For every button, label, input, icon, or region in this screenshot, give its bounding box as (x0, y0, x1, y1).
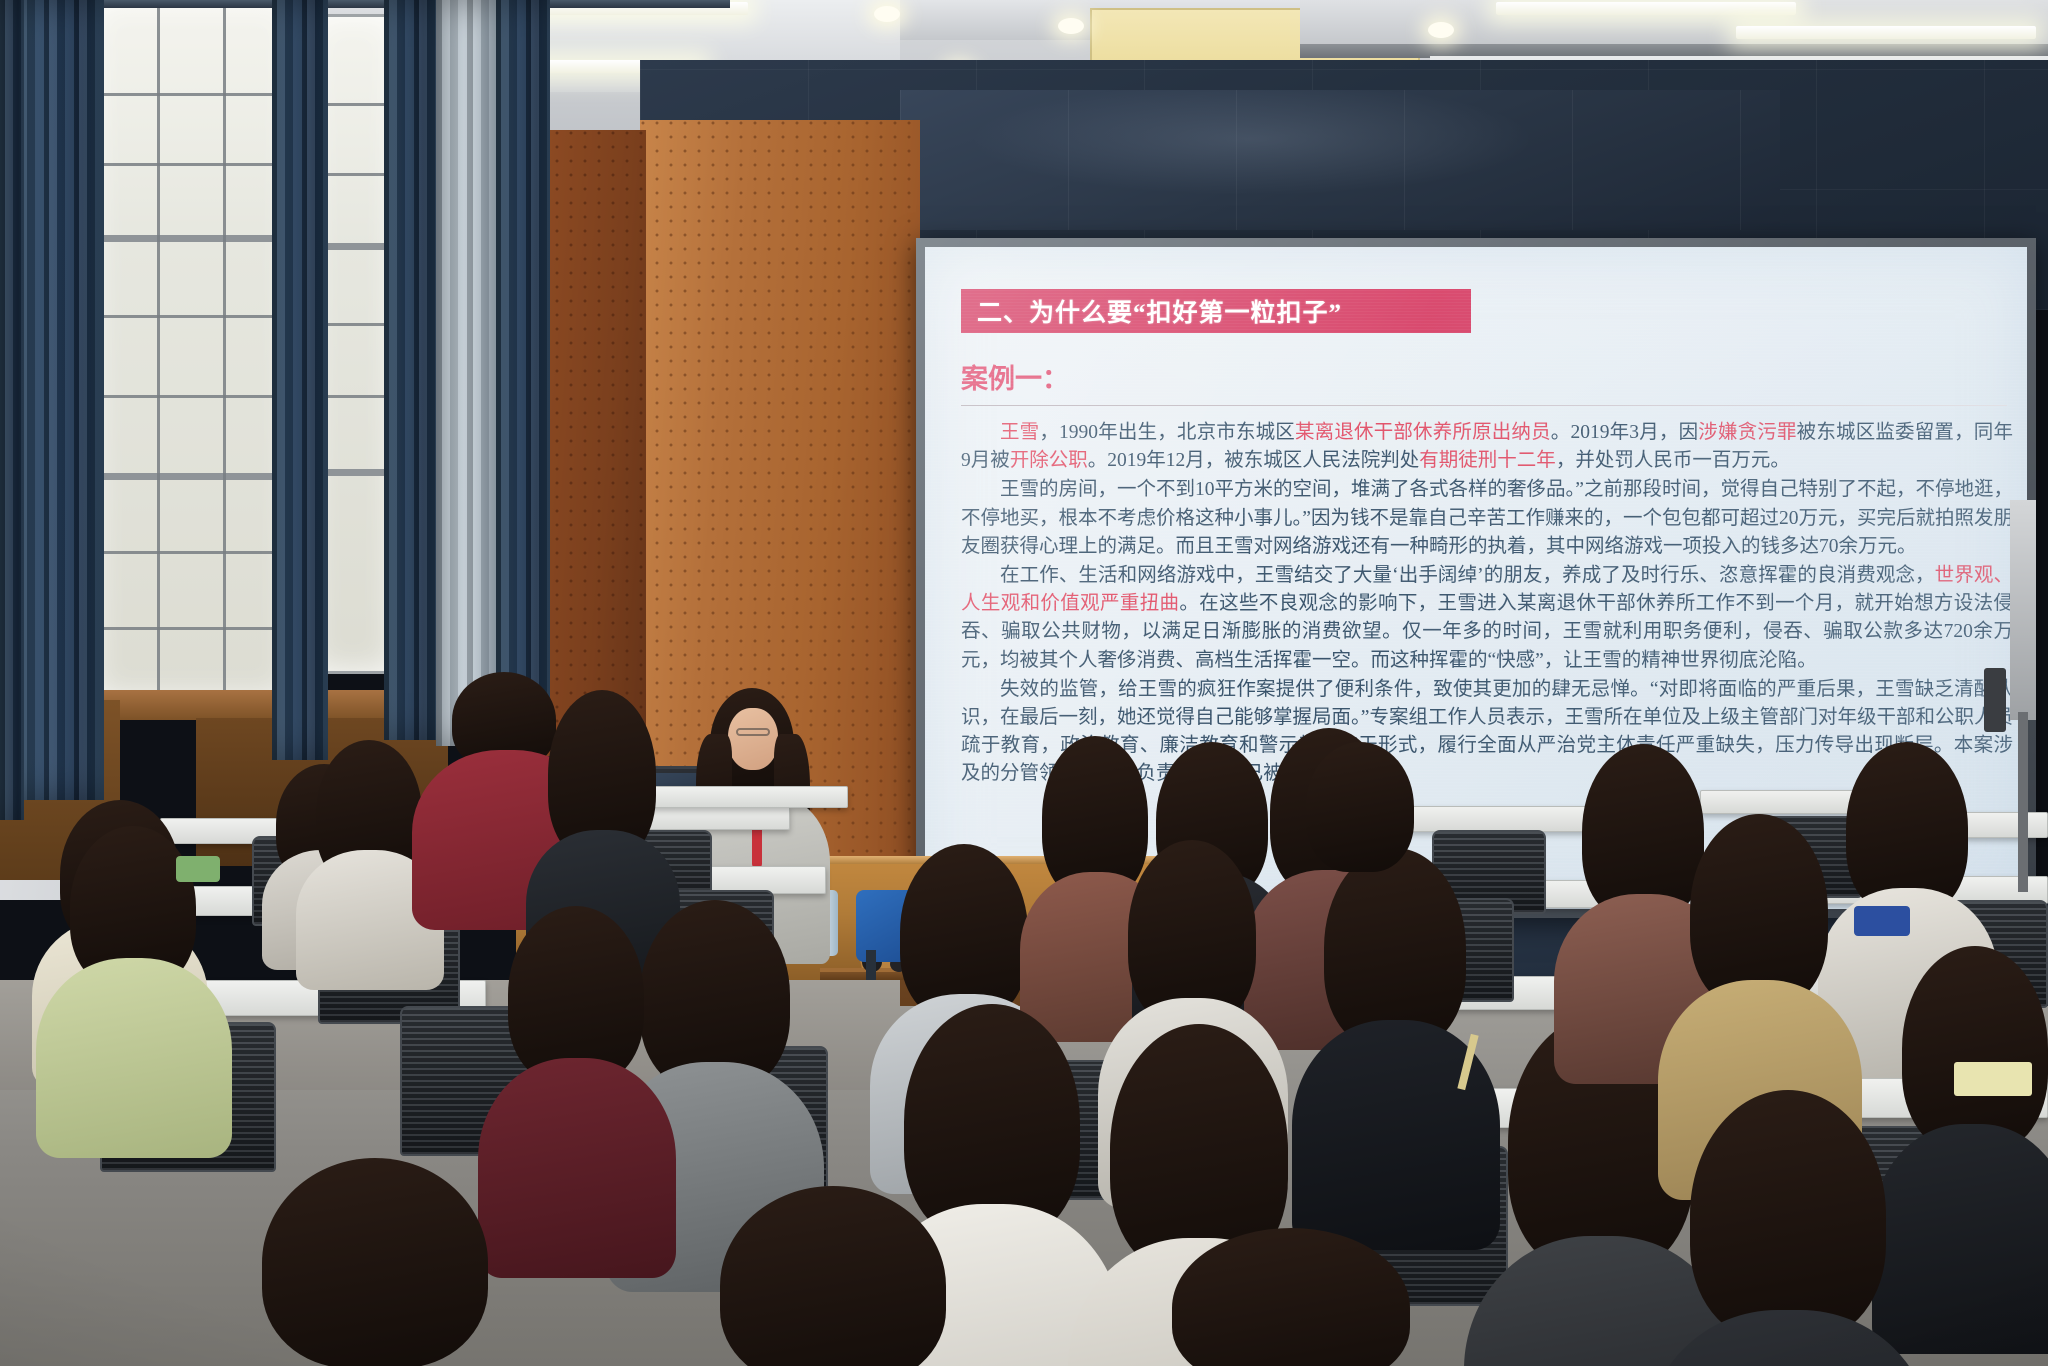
desk (648, 786, 848, 808)
slide-text-highlight: 有期徒刑十二年 (1419, 450, 1556, 471)
slide-text-highlight: 某离退休干部休养所原出纳员 (1295, 422, 1551, 443)
stand-clamp (1984, 668, 2006, 732)
slide-title-bar: 二、为什么要“扣好第一粒扣子” (961, 289, 1471, 333)
student (1306, 742, 1416, 892)
slide-subtitle: 案例一： (961, 357, 1069, 396)
ceiling-light (1736, 26, 2036, 39)
curtain (272, 0, 328, 760)
slide-text-run: 。2019年3月，因 (1551, 422, 1699, 443)
ceiling-downlight (1428, 22, 1454, 38)
slide-text-highlight: 开除公职 (1010, 450, 1088, 471)
slide-body: 王雪，1990年出生，北京市东城区某离退休干部休养所原出纳员。2019年3月，因… (961, 419, 2013, 790)
curtain (0, 0, 24, 820)
window (92, 0, 292, 700)
student (316, 740, 426, 910)
student (1690, 1090, 1890, 1366)
curtain (384, 0, 436, 740)
curtain-sheer (436, 0, 498, 746)
student (452, 672, 560, 852)
student (508, 906, 648, 1146)
slide-text-run: 在工作、生活和网络游戏中，王雪结交了大量‘出手阔绰’的朋友，养成了及时行乐、恣意… (1000, 565, 1935, 586)
slide-paragraph: 王雪的房间，一个不到10平方米的空间，堆满了各式各样的奢侈品。”之前那段时间，觉… (961, 476, 2013, 561)
slide-paragraph: 王雪，1990年出生，北京市东城区某离退休干部休养所原出纳员。2019年3月，因… (961, 419, 2013, 475)
student (1172, 1228, 1412, 1366)
student-torso (478, 1058, 676, 1278)
slide-paragraph: 在工作、生活和网络游戏中，王雪结交了大量‘出手阔绰’的朋友，养成了及时行乐、恣意… (961, 562, 2013, 675)
ceiling-downlight (1058, 18, 1084, 34)
presenter-glasses (736, 728, 770, 736)
student (262, 1158, 492, 1366)
student-hair (1902, 946, 2048, 1152)
slide-text-highlight: 王雪 (1000, 422, 1039, 443)
student (548, 690, 658, 880)
lecture-hall-photo: 二、为什么要“扣好第一粒扣子” 案例一： 王雪，1990年出生，北京市东城区某离… (0, 0, 2048, 1366)
slide-divider (961, 405, 2007, 406)
slide-text-run: 。2019年12月，被东城区人民法院判处 (1088, 450, 1420, 471)
student-hair (262, 1158, 488, 1366)
student (1582, 744, 1706, 954)
stand-pole (2018, 712, 2028, 892)
slide-text-run: ，并处罚人民币一百万元。 (1556, 450, 1790, 471)
equipment-stand (2010, 500, 2036, 720)
notebook (1854, 906, 1910, 936)
curtain (14, 0, 104, 800)
student-hair (1690, 1090, 1886, 1340)
presenter-face (728, 708, 778, 770)
student-hair (1306, 742, 1414, 872)
student-torso (1872, 1124, 2048, 1354)
ceiling-downlight (874, 6, 900, 22)
student-hair (720, 1186, 946, 1366)
slide-title: 二、为什么要“扣好第一粒扣子” (961, 293, 1342, 329)
curtain (496, 0, 550, 748)
paper (1954, 1062, 2032, 1096)
student (1690, 814, 1830, 1054)
slide-text-highlight: 涉嫌贪污罪 (1698, 422, 1796, 443)
student-hair (1172, 1228, 1410, 1366)
acoustic-wall-glare (900, 90, 1780, 230)
bag (176, 856, 220, 882)
student-torso (36, 958, 232, 1158)
curtain-rod (30, 0, 730, 8)
slide-text-run: 王雪的房间，一个不到10平方米的空间，堆满了各式各样的奢侈品。”之前那段时间，觉… (961, 479, 2013, 556)
student (720, 1186, 950, 1366)
student-hair (1690, 814, 1828, 1008)
ceiling-light (1496, 2, 1796, 15)
slide-text-run: ，1990年出生，北京市东城区 (1039, 422, 1295, 443)
